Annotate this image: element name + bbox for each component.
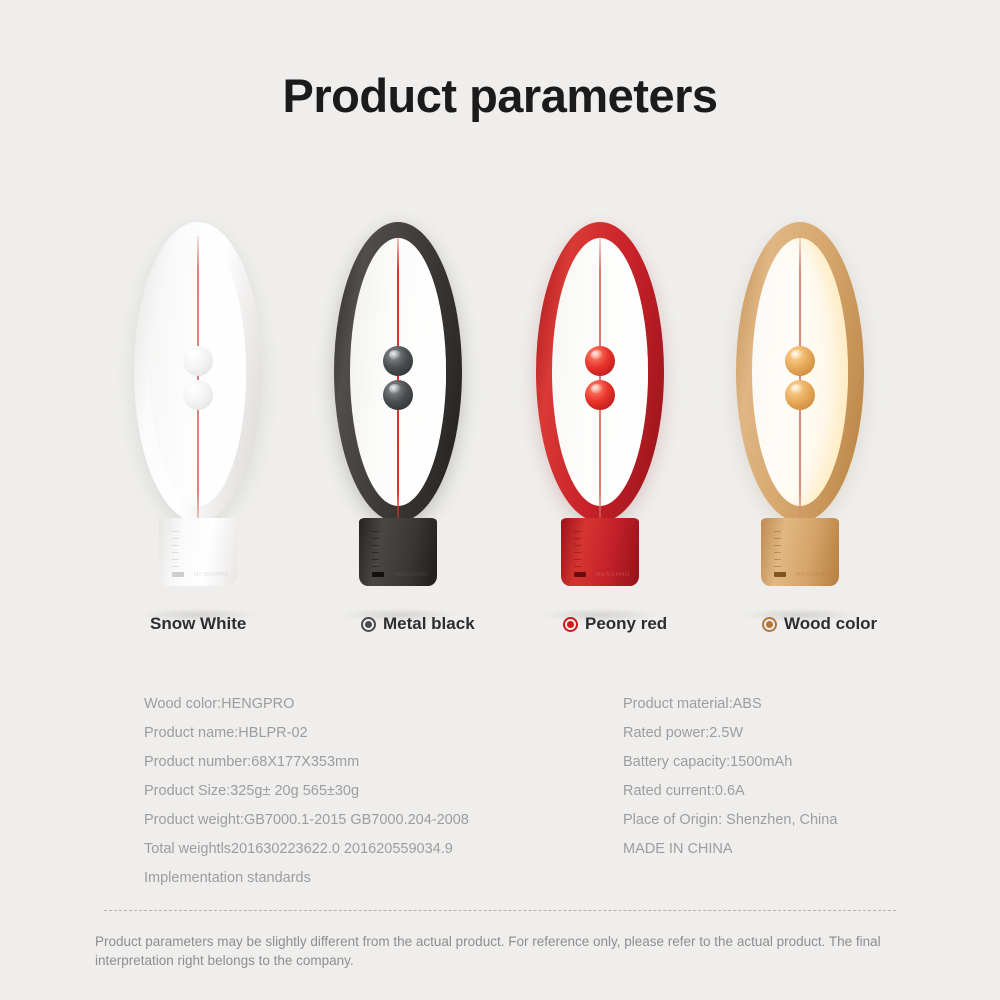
lamp-base: HENGPRO xyxy=(561,518,639,586)
specifications: Wood color:HENGPRO Product name:HBLPR-02… xyxy=(0,690,1000,890)
spec-column-left: Wood color:HENGPRO Product name:HBLPR-02… xyxy=(144,690,469,893)
spec-column-right: Product material:ABS Rated power:2.5W Ba… xyxy=(623,690,837,864)
spec-line: Total weightls201630223622.0 20162055903… xyxy=(144,835,469,864)
base-indicator-ticks xyxy=(574,531,581,567)
spec-line: Product weight:GB7000.1-2015 GB7000.204-… xyxy=(144,806,469,835)
base-indicator-ticks xyxy=(172,531,179,567)
color-option-label: Metal black xyxy=(383,614,475,634)
spec-line: Place of Origin: Shenzhen, China xyxy=(623,806,837,835)
magnet-ball-bottom xyxy=(785,380,815,410)
magnet-ball-top xyxy=(585,346,615,376)
base-logo: HENGPRO xyxy=(596,572,630,578)
magnet-ball-bottom xyxy=(183,380,213,410)
base-logo: HENGPRO xyxy=(796,572,830,578)
base-logo: HENGPRO xyxy=(394,572,428,578)
color-option-label: Peony red xyxy=(585,614,667,634)
lamp-base: HENGPRO xyxy=(159,518,237,586)
lamp-base: HENGPRO xyxy=(761,518,839,586)
spec-line: Product material:ABS xyxy=(623,690,837,719)
usb-port xyxy=(372,572,384,577)
color-option-label: Wood color xyxy=(784,614,877,634)
magnet-ball-top xyxy=(785,346,815,376)
usb-port xyxy=(574,572,586,577)
spec-line: MADE IN CHINA xyxy=(623,835,837,864)
disclaimer-note: Product parameters may be slightly diffe… xyxy=(95,932,915,970)
magnet-ball-top xyxy=(383,346,413,376)
product-figure-snow-white: HENGPRO xyxy=(98,222,298,622)
product-image-row: HENGPRO HENGPRO xyxy=(0,222,1000,622)
color-swatch-icon xyxy=(762,617,777,632)
color-option-peony-red[interactable]: Peony red xyxy=(563,614,667,634)
spec-line: Product Size:325g± 20g 565±30g xyxy=(144,777,469,806)
color-option-label: Snow White xyxy=(150,614,246,634)
lamp-base: HENGPRO xyxy=(359,518,437,586)
spec-line: Product name:HBLPR-02 xyxy=(144,719,469,748)
magnet-ball-bottom xyxy=(383,380,413,410)
color-swatch-icon xyxy=(563,617,578,632)
magnet-ball-top xyxy=(183,346,213,376)
spec-line: Implementation standards xyxy=(144,864,469,893)
usb-port xyxy=(172,572,184,577)
product-figure-metal-black: HENGPRO xyxy=(298,222,498,622)
magnet-ball-bottom xyxy=(585,380,615,410)
color-swatch-icon xyxy=(361,617,376,632)
product-figure-peony-red: HENGPRO xyxy=(500,222,700,622)
base-indicator-ticks xyxy=(372,531,379,567)
color-option-snow-white[interactable]: Snow White xyxy=(150,614,246,634)
base-logo: HENGPRO xyxy=(194,572,228,578)
color-option-metal-black[interactable]: Metal black xyxy=(361,614,475,634)
spec-line: Rated current:0.6A xyxy=(623,777,837,806)
spec-line: Product number:68X177X353mm xyxy=(144,748,469,777)
color-option-wood-color[interactable]: Wood color xyxy=(762,614,877,634)
product-figure-wood-color: HENGPRO xyxy=(700,222,900,622)
dashed-divider xyxy=(104,910,896,911)
usb-port xyxy=(774,572,786,577)
color-option-labels: Snow White Metal black Peony red Wood co… xyxy=(0,614,1000,644)
spec-line: Wood color:HENGPRO xyxy=(144,690,469,719)
spec-line: Rated power:2.5W xyxy=(623,719,837,748)
page-title: Product parameters xyxy=(0,68,1000,123)
base-indicator-ticks xyxy=(774,531,781,567)
spec-line: Battery capacity:1500mAh xyxy=(623,748,837,777)
